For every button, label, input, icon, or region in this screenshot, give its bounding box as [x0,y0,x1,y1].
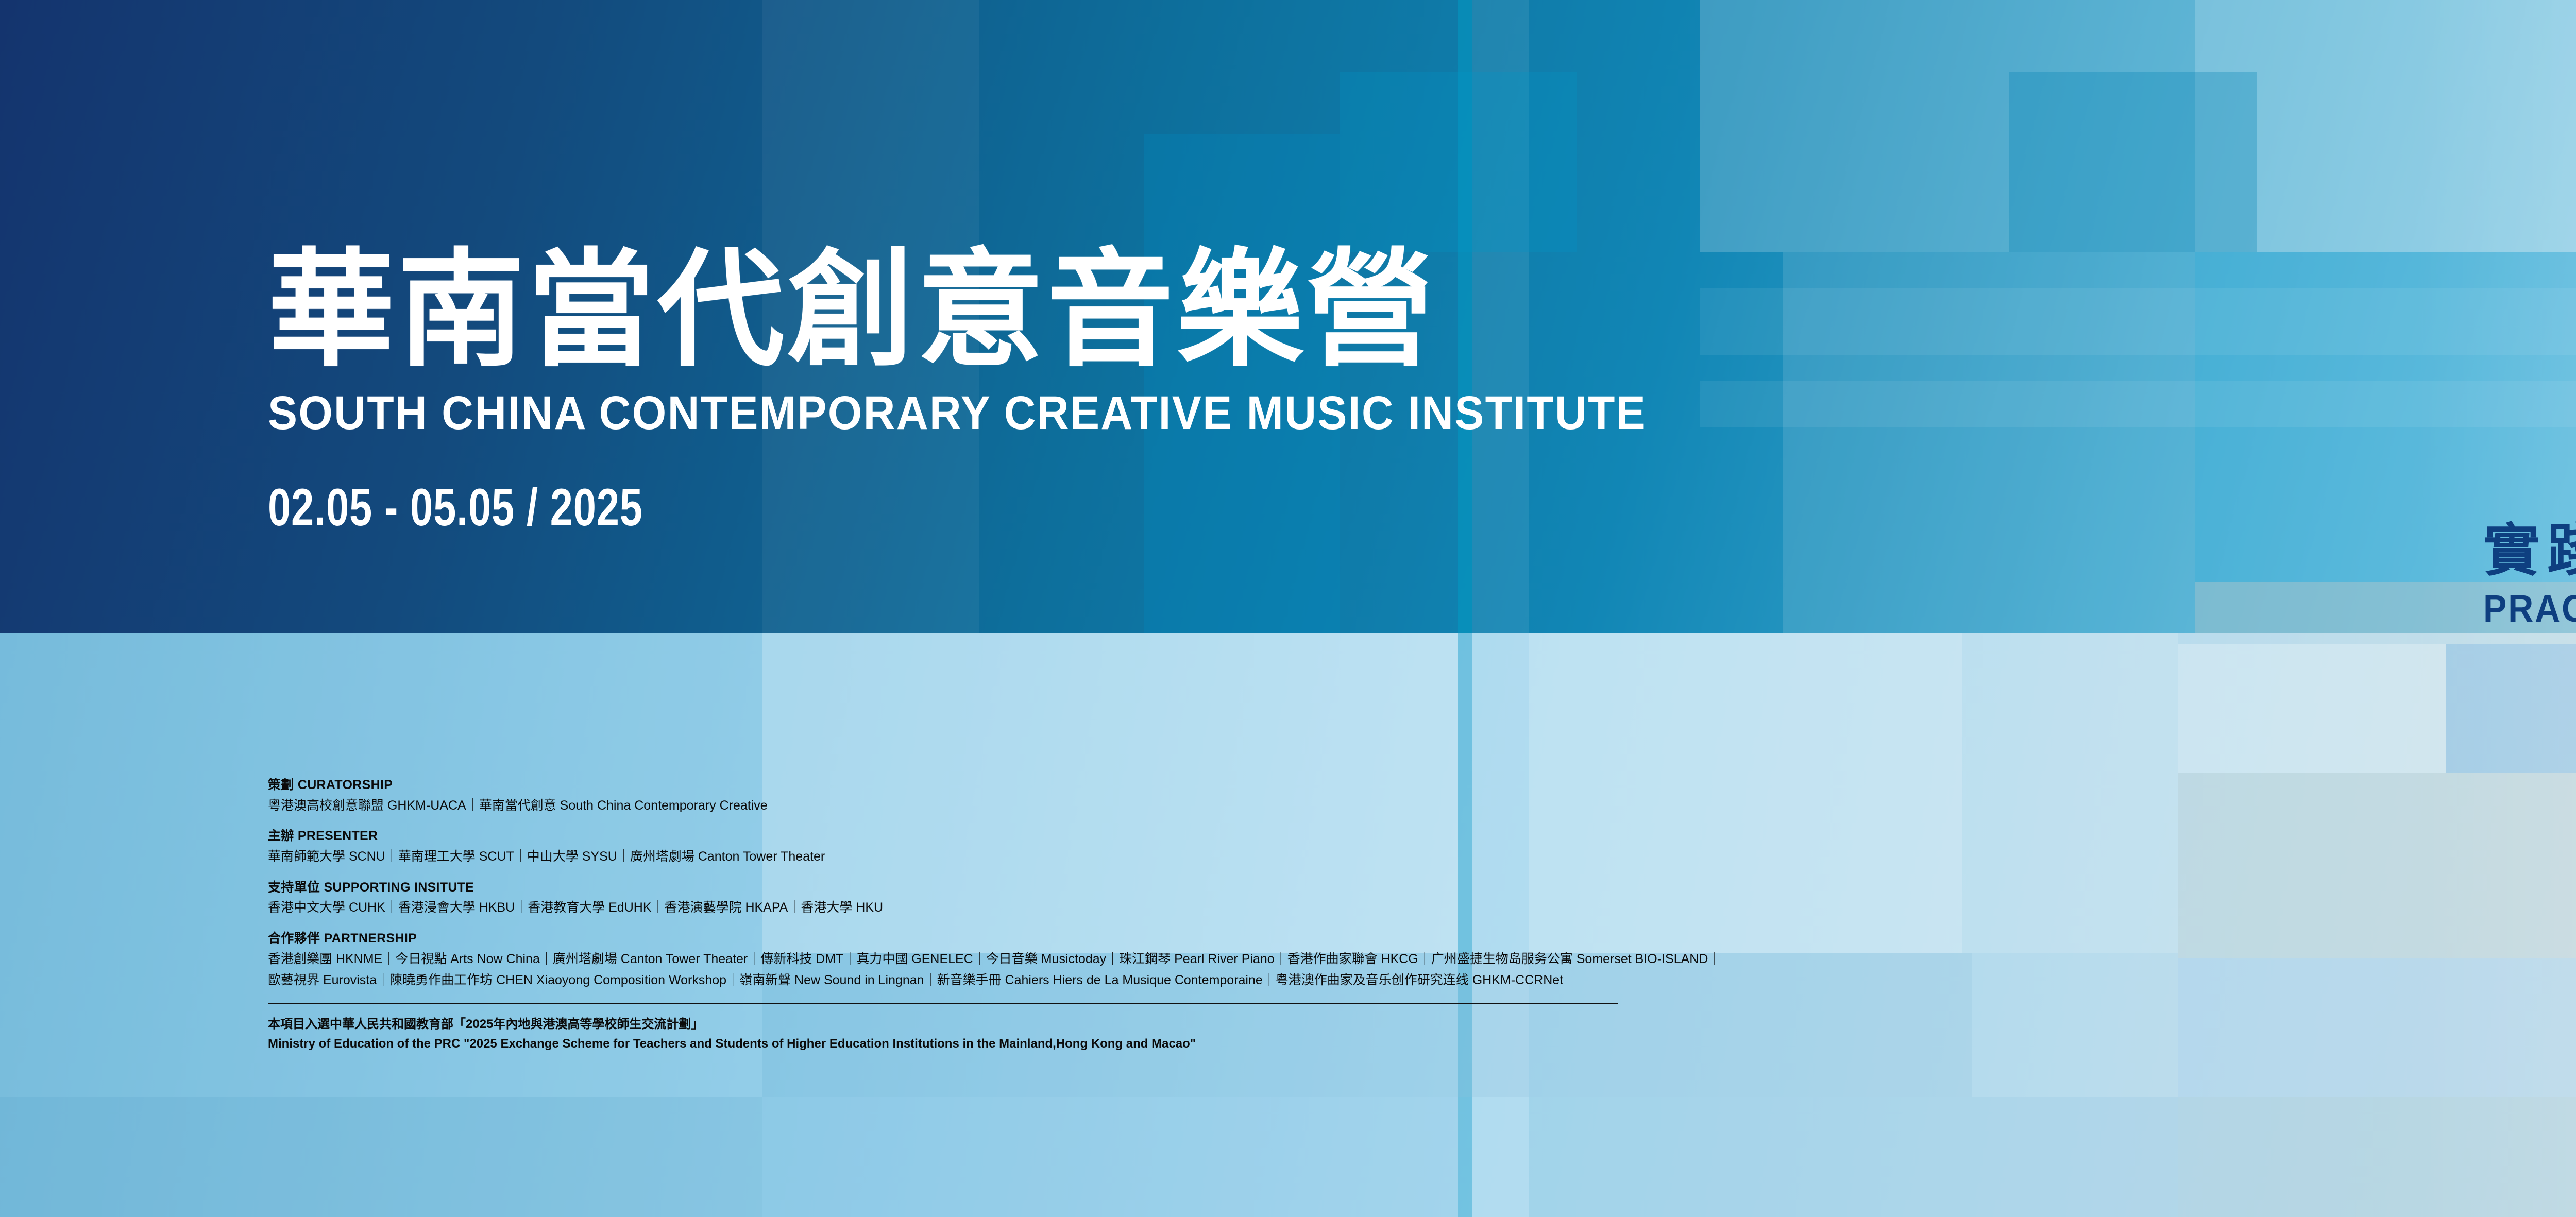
credit-group-partnership: 合作夥伴 PARTNERSHIP 香港創樂團 HKNME｜今日視點 Arts N… [268,930,1839,990]
poster-canvas: 華南當代創意音樂營 SOUTH CHINA CONTEMPORARY CREAT… [0,0,2576,1217]
credit-line: 香港中文大學 CUHK｜香港浸會大學 HKBU｜香港教育大學 EdUHK｜香港演… [268,898,1839,918]
event-date-range: 02.05 - 05.05 / 2025 [268,481,1424,534]
credit-heading: 合作夥伴 PARTNERSHIP [268,930,1839,948]
page-title-en: SOUTH CHINA CONTEMPORARY CREATIVE MUSIC … [268,389,1647,437]
moe-notice-en: Ministry of Education of the PRC "2025 E… [268,1034,1839,1054]
bg-block [1340,72,1577,252]
moe-notice-cn: 本項目入選中華人民共和國教育部「2025年內地與港澳高等學校師生交流計劃」 [268,1015,1839,1034]
page-title-cn: 華南當代創意音樂營 [268,247,1750,374]
slogan-cn: 實踐 • 對話 • 體驗 [2483,520,2576,581]
bg-block [2009,72,2257,252]
credit-heading: 策劃 CURATORSHIP [268,777,1839,794]
credit-line: 香港創樂團 HKNME｜今日視點 Arts Now China｜廣州塔劇場 Ca… [268,950,1839,969]
bg-block [1529,1097,2178,1217]
slogan-en: PRACTICE · DIALOGUE · EXPERIENCE [2483,590,2576,628]
credit-heading: 主辦 PRESENTER [268,828,1839,845]
divider [268,1003,1618,1004]
headline-block: 華南當代創意音樂營 SOUTH CHINA CONTEMPORARY CREAT… [268,247,1750,534]
credit-line: 華南師範大學 SCNU｜華南理工大學 SCUT｜中山大學 SYSU｜廣州塔劇場 … [268,847,1839,867]
bg-block [1962,633,2178,953]
credit-heading: 支持單位 SUPPORTING INSITUTE [268,879,1839,897]
bg-block [0,1097,762,1217]
slogan-block: 實踐 • 對話 • 體驗 PRACTICE · DIALOGUE · EXPER… [2483,520,2576,628]
credit-group-curatorship: 策劃 CURATORSHIP 粵港澳高校創意聯盟 GHKM-UACA｜華南當代創… [268,777,1839,815]
credit-line: 粵港澳高校創意聯盟 GHKM-UACA｜華南當代創意 South China C… [268,796,1839,816]
bg-block [2178,644,2446,773]
bg-block [762,1097,1458,1217]
credit-line: 歐藝視界 Eurovista｜陳曉勇作曲工作坊 CHEN Xiaoyong Co… [268,971,1839,990]
credits-block: 策劃 CURATORSHIP 粵港澳高校創意聯盟 GHKM-UACA｜華南當代創… [268,777,1839,1054]
credit-group-supporting-institute: 支持單位 SUPPORTING INSITUTE 香港中文大學 CUHK｜香港浸… [268,879,1839,918]
credit-group-presenter: 主辦 PRESENTER 華南師範大學 SCNU｜華南理工大學 SCUT｜中山大… [268,828,1839,866]
